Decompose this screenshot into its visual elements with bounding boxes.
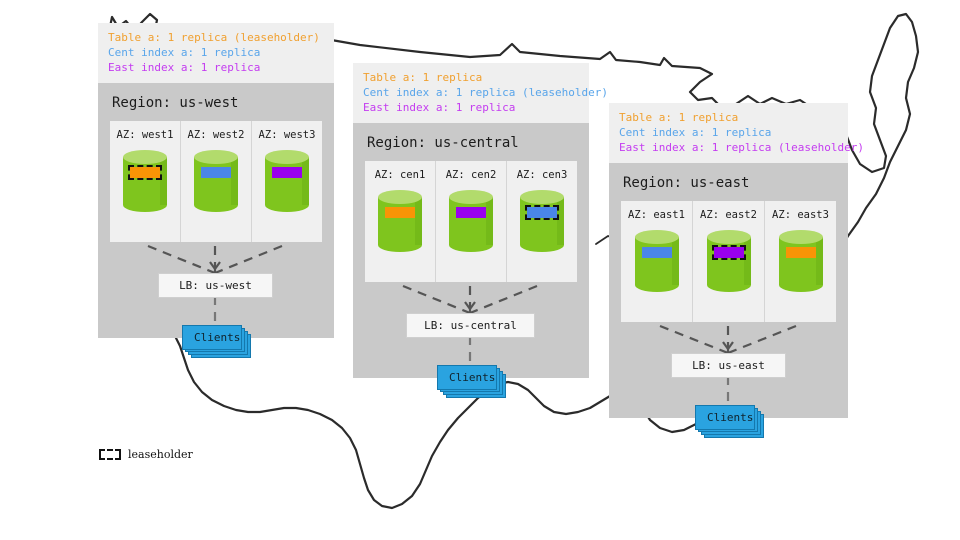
cylinder-shade: [302, 157, 309, 205]
az-row-us-central: AZ: cen1 AZ: cen2: [365, 161, 577, 282]
leaseholder-swatch-icon: [99, 449, 121, 460]
node-cylinder-cen2[interactable]: [449, 190, 493, 252]
az-cell-east3[interactable]: AZ: east3: [765, 201, 836, 322]
az-label: AZ: west1: [110, 129, 180, 141]
az-cell-west2[interactable]: AZ: west2: [181, 121, 252, 242]
region-body-us-west: Region: us-west AZ: west1 AZ: west2: [98, 83, 334, 338]
clients-node-us-east[interactable]: Clients: [695, 405, 755, 430]
cylinder-shade: [160, 157, 167, 205]
az-label: AZ: cen2: [436, 169, 506, 181]
az-label: AZ: cen3: [507, 169, 577, 181]
clients-label[interactable]: Clients: [437, 365, 497, 390]
cylinder-top: [779, 230, 823, 244]
cylinder-top: [265, 150, 309, 164]
replica-chip-east-index-a: [456, 207, 486, 218]
region-panel-us-west[interactable]: Table a: 1 replica (leaseholder) Cent in…: [98, 23, 334, 338]
replica-chip-east-index-a: [272, 167, 302, 178]
cylinder-top: [520, 190, 564, 204]
az-label: AZ: cen1: [365, 169, 435, 181]
az-label: AZ: east2: [693, 209, 764, 221]
replica-summary-us-central: Table a: 1 replica Cent index a: 1 repli…: [353, 63, 589, 123]
replica-chip-cent-index-a: [527, 207, 557, 218]
cylinder-shade: [415, 197, 422, 245]
az-row-us-east: AZ: east1 AZ: east2: [621, 201, 836, 322]
clients-label[interactable]: Clients: [182, 325, 242, 350]
node-cylinder-west1[interactable]: [123, 150, 167, 212]
region-panel-us-east[interactable]: Table a: 1 replica Cent index a: 1 repli…: [609, 103, 848, 418]
node-cylinder-west2[interactable]: [194, 150, 238, 212]
replica-line-cent: Cent index a: 1 replica: [619, 125, 838, 140]
region-body-us-east: Region: us-east AZ: east1 AZ: east2: [609, 163, 848, 418]
cylinder-top: [123, 150, 167, 164]
az-cell-west1[interactable]: AZ: west1: [110, 121, 181, 242]
az-label: AZ: west3: [252, 129, 322, 141]
replica-chip-table-a: [786, 247, 816, 258]
cylinder-shade: [557, 197, 564, 245]
region-title: Region: us-east: [609, 163, 848, 201]
region-body-us-central: Region: us-central AZ: cen1 AZ: cen2: [353, 123, 589, 378]
region-title: Region: us-central: [353, 123, 589, 161]
cylinder-top: [194, 150, 238, 164]
az-cell-cen3[interactable]: AZ: cen3: [507, 161, 577, 282]
az-cell-east2[interactable]: AZ: east2: [693, 201, 765, 322]
replica-chip-table-a: [385, 207, 415, 218]
replica-line-east: East index a: 1 replica (leaseholder): [619, 140, 838, 155]
cylinder-top: [449, 190, 493, 204]
load-balancer-us-east[interactable]: LB: us-east: [671, 353, 786, 378]
replica-chip-table-a: [130, 167, 160, 178]
replica-line-table: Table a: 1 replica: [363, 70, 579, 85]
node-cylinder-east3[interactable]: [779, 230, 823, 292]
replica-line-table: Table a: 1 replica (leaseholder): [108, 30, 324, 45]
az-cell-west3[interactable]: AZ: west3: [252, 121, 322, 242]
cylinder-shade: [231, 157, 238, 205]
az-cell-east1[interactable]: AZ: east1: [621, 201, 693, 322]
node-cylinder-west3[interactable]: [265, 150, 309, 212]
replica-chip-cent-index-a: [642, 247, 672, 258]
clients-node-us-central[interactable]: Clients: [437, 365, 497, 390]
az-label: AZ: west2: [181, 129, 251, 141]
az-label: AZ: east1: [621, 209, 692, 221]
replica-line-east: East index a: 1 replica: [108, 60, 324, 75]
node-cylinder-cen3[interactable]: [520, 190, 564, 252]
replica-line-east: East index a: 1 replica: [363, 100, 579, 115]
cylinder-top: [707, 230, 751, 244]
node-cylinder-east2[interactable]: [707, 230, 751, 292]
cylinder-shade: [744, 237, 751, 285]
legend: leaseholder: [99, 448, 193, 461]
az-cell-cen2[interactable]: AZ: cen2: [436, 161, 507, 282]
az-row-us-west: AZ: west1 AZ: west2: [110, 121, 322, 242]
cylinder-top: [378, 190, 422, 204]
replica-chip-cent-index-a: [201, 167, 231, 178]
replica-line-table: Table a: 1 replica: [619, 110, 838, 125]
node-cylinder-cen1[interactable]: [378, 190, 422, 252]
legend-label: leaseholder: [128, 448, 193, 461]
cylinder-shade: [816, 237, 823, 285]
cylinder-shade: [486, 197, 493, 245]
region-title: Region: us-west: [98, 83, 334, 121]
load-balancer-us-west[interactable]: LB: us-west: [158, 273, 273, 298]
replica-summary-us-west: Table a: 1 replica (leaseholder) Cent in…: [98, 23, 334, 83]
cylinder-shade: [672, 237, 679, 285]
clients-label[interactable]: Clients: [695, 405, 755, 430]
node-cylinder-east1[interactable]: [635, 230, 679, 292]
az-label: AZ: east3: [765, 209, 836, 221]
clients-node-us-west[interactable]: Clients: [182, 325, 242, 350]
replica-chip-east-index-a: [714, 247, 744, 258]
replica-line-cent: Cent index a: 1 replica: [108, 45, 324, 60]
load-balancer-us-central[interactable]: LB: us-central: [406, 313, 535, 338]
cylinder-top: [635, 230, 679, 244]
region-panel-us-central[interactable]: Table a: 1 replica Cent index a: 1 repli…: [353, 63, 589, 378]
replica-line-cent: Cent index a: 1 replica (leaseholder): [363, 85, 579, 100]
replica-summary-us-east: Table a: 1 replica Cent index a: 1 repli…: [609, 103, 848, 163]
az-cell-cen1[interactable]: AZ: cen1: [365, 161, 436, 282]
